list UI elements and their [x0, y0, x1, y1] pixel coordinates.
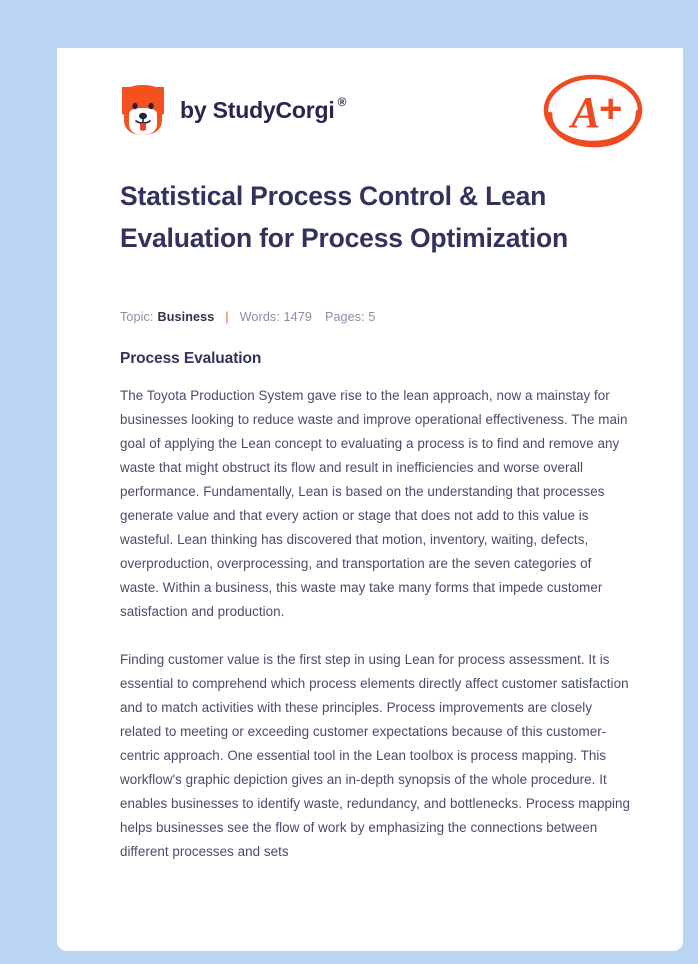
page-root: by StudyCorgi ® A + Statistical Process … [0, 0, 698, 964]
document-body: Process Evaluation The Toyota Production… [120, 350, 632, 864]
meta-pages: Pages: 5 [325, 310, 376, 324]
corgi-logo-icon [120, 84, 166, 136]
body-paragraph: The Toyota Production System gave rise t… [120, 384, 632, 624]
brand-lockup[interactable]: by StudyCorgi ® [120, 84, 346, 136]
meta-topic-label: Topic: [120, 310, 154, 324]
brand-wordmark: by StudyCorgi ® [180, 99, 346, 122]
meta-separator: | [225, 310, 228, 324]
document-paper: by StudyCorgi ® A + Statistical Process … [57, 48, 683, 951]
brand-text: by StudyCorgi [180, 99, 335, 122]
svg-text:+: + [599, 87, 622, 131]
meta-topic-value[interactable]: Business [158, 310, 215, 324]
body-paragraph: Finding customer value is the first step… [120, 648, 632, 864]
registered-mark-icon: ® [338, 96, 347, 108]
document-header: by StudyCorgi ® A + [120, 68, 653, 152]
meta-words: Words: 1479 [240, 310, 312, 324]
svg-text:A: A [568, 88, 600, 137]
page-title: Statistical Process Control & Lean Evalu… [120, 176, 650, 259]
document-meta: Topic: Business | Words: 1479 Pages: 5 [120, 310, 375, 324]
a-plus-badge-icon: A + [541, 70, 645, 150]
section-heading: Process Evaluation [120, 350, 632, 368]
